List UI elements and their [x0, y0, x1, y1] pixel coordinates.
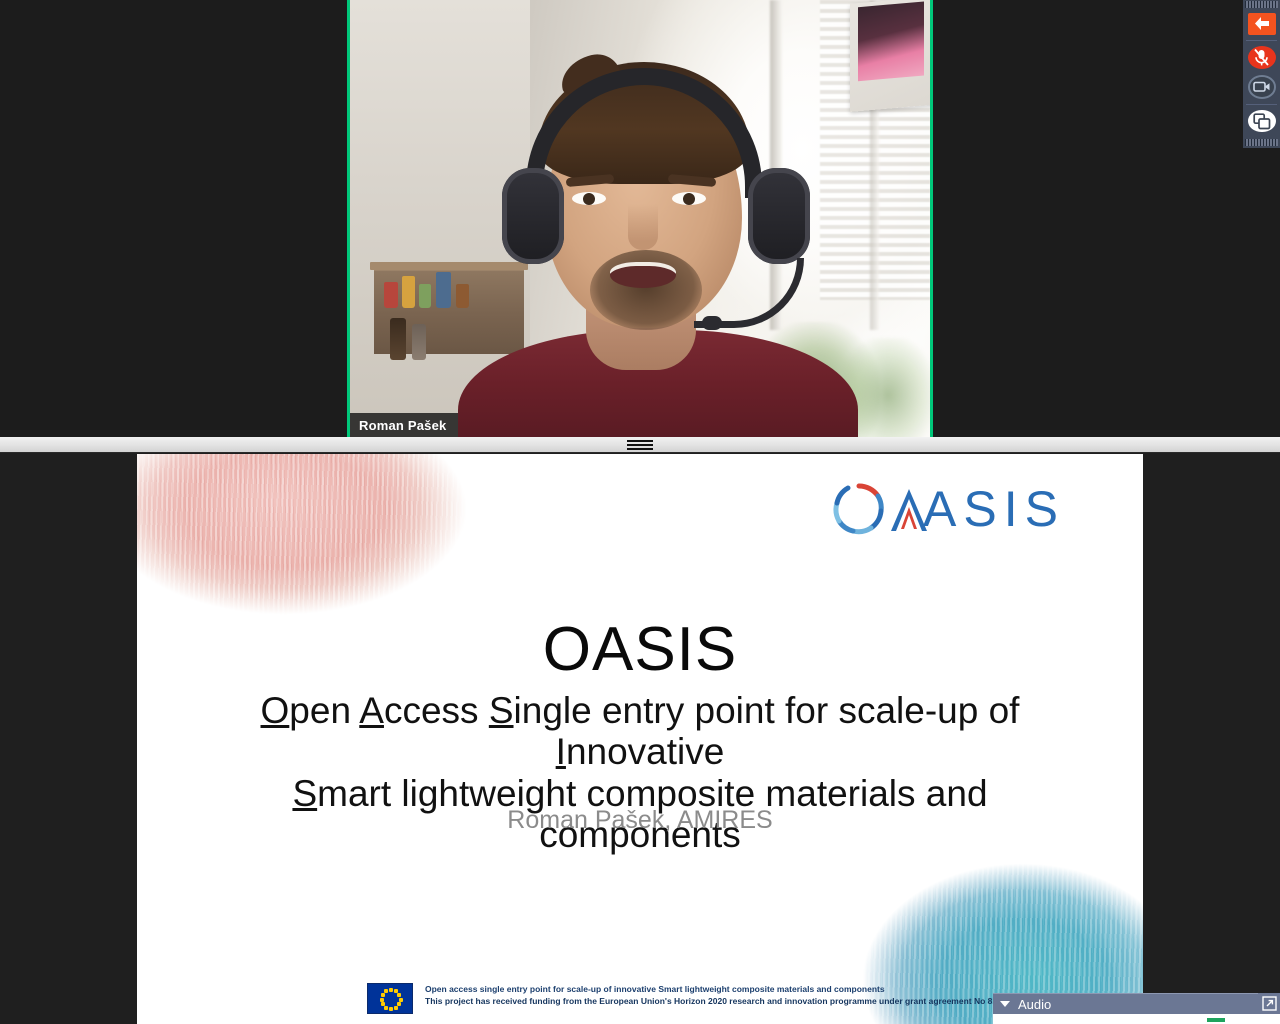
- participant-video-tile[interactable]: Roman Pašek: [347, 0, 933, 442]
- pink-crystal-texture-decoration: [137, 454, 493, 631]
- subtitle-text: ccess: [384, 690, 489, 731]
- subtitle-text: ingle entry point for scale-up of: [514, 690, 1020, 731]
- acronym-letter: A: [359, 690, 384, 731]
- funding-line-2: This project has received funding from t…: [425, 995, 1016, 1007]
- audio-panel-header[interactable]: Audio: [993, 993, 1263, 1014]
- external-link-icon: [1262, 996, 1277, 1011]
- eu-star: [389, 1007, 393, 1011]
- boom-microphone-tip: [702, 316, 722, 330]
- acronym-letter: O: [261, 690, 290, 731]
- subtitle-text: pen: [289, 690, 359, 731]
- headphone-earcup-right: [748, 168, 810, 264]
- video-canvas: Roman Pašek: [350, 0, 930, 439]
- arrow-left-icon: [1253, 16, 1270, 31]
- slide-subtitle-line1: Open Access Single entry point for scale…: [187, 690, 1093, 773]
- caret-down-icon[interactable]: [1000, 1001, 1010, 1007]
- eu-star: [397, 993, 401, 997]
- headphone-earcup-left: [502, 168, 564, 264]
- acronym-letter: S: [489, 690, 514, 731]
- participant-name-label: Roman Pašek: [350, 413, 458, 439]
- toolbar-divider: [1246, 40, 1277, 41]
- slide-author: Roman Pašek, AMIRES: [137, 806, 1143, 835]
- audio-popout-button[interactable]: [1258, 993, 1280, 1014]
- toolbar-drag-handle-icon[interactable]: [1245, 139, 1278, 146]
- eu-star: [384, 989, 388, 993]
- oasis-logo-text: ASIS: [923, 480, 1065, 538]
- windows-stack-icon: [1253, 113, 1271, 130]
- eu-star: [397, 1002, 401, 1006]
- drag-handle-icon[interactable]: [627, 440, 653, 450]
- screen-share-window: Roman Pašek: [0, 0, 1280, 1024]
- audio-panel-body: [993, 1014, 1263, 1024]
- european-union-flag-icon: [367, 983, 413, 1014]
- audio-panel[interactable]: Audio: [993, 993, 1280, 1024]
- nose: [628, 204, 658, 250]
- eu-star: [381, 1002, 385, 1006]
- video-pane: Roman Pašek: [0, 0, 1280, 437]
- eu-star: [394, 1006, 398, 1010]
- collapse-toolbar-button[interactable]: [1248, 13, 1276, 36]
- oasis-aperture-logo-icon: [831, 481, 887, 537]
- pane-splitter[interactable]: [0, 437, 1280, 453]
- video-camera-icon: [1253, 80, 1271, 93]
- eu-star: [399, 998, 403, 1002]
- participant-figure: [350, 0, 930, 439]
- acronym-letter: I: [556, 731, 566, 772]
- toolbar-divider: [1246, 104, 1277, 105]
- audio-level-meter: [1207, 1018, 1225, 1022]
- slide-footer: Open access single entry point for scale…: [367, 983, 1083, 1014]
- mouth: [610, 262, 676, 288]
- oasis-logo: ASIS: [831, 480, 1065, 538]
- microphone-muted-icon: [1253, 48, 1270, 67]
- camera-button[interactable]: [1248, 75, 1276, 99]
- eu-star: [380, 998, 384, 1002]
- microphone-button[interactable]: [1248, 46, 1276, 69]
- slide-title: OASIS: [137, 614, 1143, 685]
- shared-content-area: ASIS OASIS Open Access Single entry poin…: [0, 454, 1280, 1024]
- eu-star: [389, 988, 393, 992]
- share-screen-button[interactable]: [1248, 110, 1276, 133]
- eu-star: [384, 1006, 388, 1010]
- eu-star: [381, 993, 385, 997]
- floating-meeting-toolbar[interactable]: [1243, 0, 1280, 148]
- funding-statement: Open access single entry point for scale…: [425, 983, 1016, 1007]
- presentation-slide[interactable]: ASIS OASIS Open Access Single entry poin…: [137, 454, 1143, 1024]
- toolbar-drag-handle-icon[interactable]: [1245, 1, 1278, 8]
- subtitle-text: nnovative: [566, 731, 724, 772]
- funding-line-1: Open access single entry point for scale…: [425, 983, 1016, 995]
- audio-panel-title: Audio: [1018, 997, 1051, 1012]
